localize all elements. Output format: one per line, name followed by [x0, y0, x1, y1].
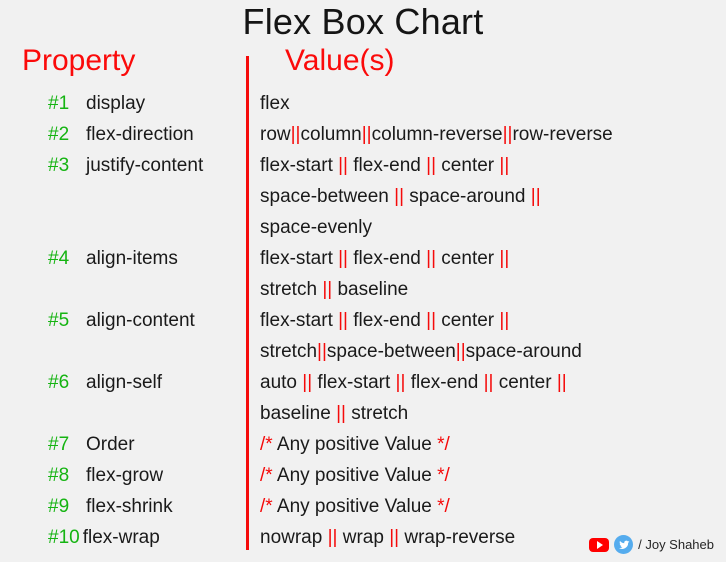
comment-marker: /* [260, 496, 273, 517]
value-line: row||column||column-reverse||row-reverse [260, 119, 726, 150]
value-separator: || [394, 186, 404, 207]
value-line: flex [260, 88, 726, 119]
value-token: center [436, 310, 499, 331]
property-cell: #6align-self [0, 367, 246, 398]
value-separator: || [302, 372, 312, 393]
value-line: flex-start || flex-end || center || [260, 305, 726, 336]
value-token: Any positive Value [273, 465, 437, 486]
comment-marker: */ [437, 496, 450, 517]
value-cell: flex-start || flex-end || center ||stret… [246, 243, 726, 305]
property-number: #6 [48, 367, 78, 398]
property-number: #2 [48, 119, 78, 150]
table-row: #4align-itemsflex-start || flex-end || c… [0, 243, 726, 305]
value-token: center [493, 372, 556, 393]
value-token: center [436, 155, 499, 176]
property-name: flex-shrink [86, 491, 173, 522]
value-separator: || [499, 248, 509, 269]
value-separator: || [456, 341, 466, 362]
table-row: #3justify-contentflex-start || flex-end … [0, 150, 726, 243]
value-token: flex-start [260, 310, 338, 331]
value-token: baseline [332, 279, 408, 300]
table-row: #1displayflex [0, 88, 726, 119]
table-row: #9flex-shrink/* Any positive Value */ [0, 491, 726, 522]
property-name: justify-content [86, 150, 203, 181]
value-separator: || [336, 403, 346, 424]
value-separator: || [389, 527, 399, 548]
table-row: #5align-contentflex-start || flex-end ||… [0, 305, 726, 367]
value-cell: auto || flex-start || flex-end || center… [246, 367, 726, 429]
table-row: #8flex-grow/* Any positive Value */ [0, 460, 726, 491]
property-name: flex-wrap [83, 522, 160, 553]
value-cell: row||column||column-reverse||row-reverse [246, 119, 726, 150]
value-separator: || [338, 248, 348, 269]
value-token: auto [260, 372, 302, 393]
value-token: stretch [260, 341, 317, 362]
comment-marker: */ [437, 465, 450, 486]
property-name: flex-grow [86, 460, 163, 491]
property-cell: #9flex-shrink [0, 491, 246, 522]
value-cell: flex-start || flex-end || center ||space… [246, 150, 726, 243]
value-token: flex-end [405, 372, 483, 393]
property-number: #8 [48, 460, 78, 491]
value-token: flex [260, 93, 290, 114]
value-cell: flex [246, 88, 726, 119]
property-cell: #4align-items [0, 243, 246, 274]
value-token: Any positive Value [273, 496, 437, 517]
value-token: flex-end [348, 310, 426, 331]
value-token: Any positive Value [273, 434, 437, 455]
property-number: #3 [48, 150, 78, 181]
value-token: stretch [260, 279, 322, 300]
table-row: #2flex-directionrow||column||column-reve… [0, 119, 726, 150]
value-token: wrap-reverse [399, 527, 515, 548]
value-cell: flex-start || flex-end || center ||stret… [246, 305, 726, 367]
property-cell: #5align-content [0, 305, 246, 336]
value-line: flex-start || flex-end || center || [260, 150, 726, 181]
value-separator: || [557, 372, 567, 393]
property-number: #1 [48, 88, 78, 119]
value-separator: || [426, 310, 436, 331]
value-separator: || [362, 124, 372, 145]
value-token: flex-start [260, 155, 338, 176]
property-name: align-content [86, 305, 195, 336]
flexbox-property-table: #1displayflex#2flex-directionrow||column… [0, 88, 726, 553]
value-cell: /* Any positive Value */ [246, 491, 726, 522]
value-separator: || [291, 124, 301, 145]
comment-marker: /* [260, 465, 273, 486]
value-separator: || [328, 527, 338, 548]
value-separator: || [338, 310, 348, 331]
value-token: wrap [337, 527, 389, 548]
property-cell: #7Order [0, 429, 246, 460]
value-token: space-around [404, 186, 531, 207]
page-title: Flex Box Chart [0, 0, 726, 42]
property-cell: #8flex-grow [0, 460, 246, 491]
value-separator: || [426, 248, 436, 269]
property-number: #5 [48, 305, 78, 336]
value-line: stretch || baseline [260, 274, 726, 305]
value-token: space-between [327, 341, 456, 362]
value-separator: || [426, 155, 436, 176]
value-separator: || [499, 310, 509, 331]
value-line: space-evenly [260, 212, 726, 243]
property-cell: #1display [0, 88, 246, 119]
property-cell: #2flex-direction [0, 119, 246, 150]
value-separator: || [499, 155, 509, 176]
value-token: flex-start [312, 372, 395, 393]
column-headers: Property Value(s) [0, 42, 726, 80]
property-number: #4 [48, 243, 78, 274]
value-token: space-between [260, 186, 394, 207]
value-line: /* Any positive Value */ [260, 491, 726, 522]
value-separator: || [396, 372, 406, 393]
property-name: display [86, 88, 145, 119]
property-name: align-items [86, 243, 178, 274]
value-line: space-between || space-around || [260, 181, 726, 212]
property-name: align-self [86, 367, 162, 398]
youtube-icon[interactable] [589, 538, 609, 552]
value-line: flex-start || flex-end || center || [260, 243, 726, 274]
value-separator: || [531, 186, 541, 207]
value-separator: || [338, 155, 348, 176]
value-token: row-reverse [512, 124, 612, 145]
comment-marker: /* [260, 434, 273, 455]
value-token: flex-start [260, 248, 338, 269]
credit-text: / Joy Shaheb [638, 537, 714, 552]
value-cell: /* Any positive Value */ [246, 460, 726, 491]
value-line: stretch||space-between||space-around [260, 336, 726, 367]
value-token: row [260, 124, 291, 145]
value-token: flex-end [348, 248, 426, 269]
value-line: baseline || stretch [260, 398, 726, 429]
value-separator: || [484, 372, 494, 393]
property-number: #9 [48, 491, 78, 522]
comment-marker: */ [437, 434, 450, 455]
property-cell: #10flex-wrap [0, 522, 246, 553]
value-token: baseline [260, 403, 336, 424]
property-number: #7 [48, 429, 78, 460]
value-token: space-evenly [260, 217, 372, 238]
value-token: column [301, 124, 362, 145]
values-column-header: Value(s) [285, 42, 394, 80]
value-line: auto || flex-start || flex-end || center… [260, 367, 726, 398]
property-name: flex-direction [86, 119, 194, 150]
value-cell: /* Any positive Value */ [246, 429, 726, 460]
value-separator: || [317, 341, 327, 362]
value-token: nowrap [260, 527, 328, 548]
value-token: flex-end [348, 155, 426, 176]
value-token: space-around [466, 341, 582, 362]
value-token: column-reverse [372, 124, 503, 145]
value-separator: || [503, 124, 513, 145]
twitter-icon[interactable] [614, 535, 633, 554]
author-credit: / Joy Shaheb [589, 535, 714, 554]
table-row: #7Order/* Any positive Value */ [0, 429, 726, 460]
property-column-header: Property [22, 42, 135, 80]
value-line: /* Any positive Value */ [260, 460, 726, 491]
value-token: center [436, 248, 499, 269]
value-line: /* Any positive Value */ [260, 429, 726, 460]
property-name: Order [86, 429, 135, 460]
property-cell: #3justify-content [0, 150, 246, 181]
table-row: #6align-selfauto || flex-start || flex-e… [0, 367, 726, 429]
value-token: stretch [346, 403, 408, 424]
property-number: #10 [48, 522, 80, 553]
value-separator: || [322, 279, 332, 300]
